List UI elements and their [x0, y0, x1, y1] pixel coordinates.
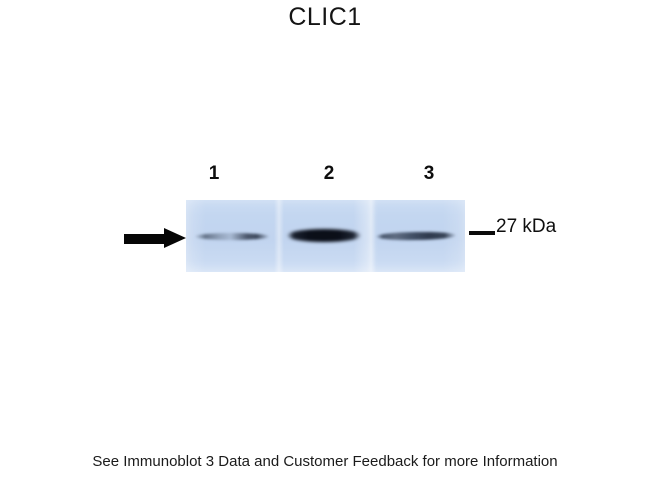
- molecular-weight-marker: 27 kDa: [469, 216, 556, 238]
- band-lane-2: [287, 229, 361, 242]
- lane-label-1: 1: [202, 163, 226, 185]
- western-blot-figure: 1 2 3 27 kDa: [0, 0, 650, 481]
- blot-membrane-panel: [186, 200, 465, 272]
- figure-caption: See Immunoblot 3 Data and Customer Feedb…: [0, 452, 650, 472]
- marker-tick-icon: [469, 231, 495, 235]
- lane-label-3: 3: [417, 163, 441, 185]
- marker-label: 27 kDa: [496, 216, 556, 238]
- lane-seam-2-3: [366, 200, 376, 272]
- arrow-head: [164, 228, 186, 248]
- band-lane-1: [195, 233, 269, 240]
- band-lane-3: [376, 231, 456, 240]
- arrow-shaft: [124, 234, 166, 244]
- lane-seam-1-2: [274, 200, 284, 272]
- band-pointer-arrow-icon: [124, 228, 186, 249]
- lane-label-2: 2: [317, 163, 341, 185]
